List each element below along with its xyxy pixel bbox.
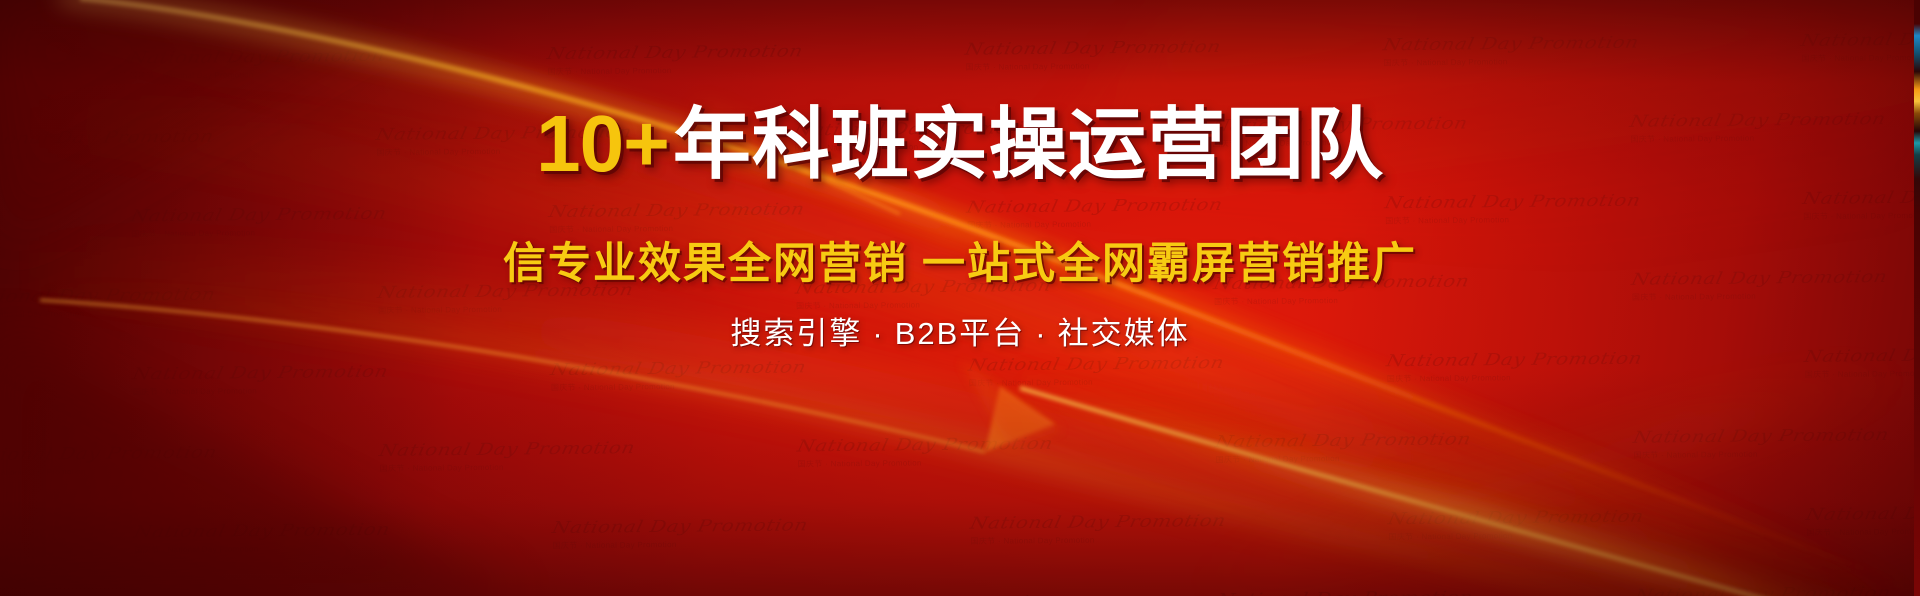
- subheadline: 信专业效果全网营销 一站式全网霸屏营销推广: [0, 243, 1920, 286]
- headline: 10+年科班实操运营团队: [0, 104, 1920, 184]
- tagline-item-b2b-platform: B2B平台: [895, 316, 1026, 351]
- tagline-separator-2: ·: [1025, 316, 1057, 351]
- headline-text: 年科班实操运营团队: [673, 100, 1384, 188]
- tagline-item-social-media: 社交媒体: [1058, 316, 1190, 351]
- tagline-separator-1: ·: [862, 316, 894, 351]
- headline-number: 10+: [536, 99, 673, 188]
- banner-content: 10+年科班实操运营团队 信专业效果全网营销 一站式全网霸屏营销推广 搜索引擎·…: [0, 0, 1920, 596]
- tagline: 搜索引擎·B2B平台·社交媒体: [0, 318, 1920, 349]
- promo-banner: National Day Promotion国庆节 · National Day…: [0, 0, 1920, 596]
- next-slide-edge-sliver[interactable]: [1914, 0, 1920, 596]
- tagline-item-search-engine: 搜索引擎: [730, 316, 862, 351]
